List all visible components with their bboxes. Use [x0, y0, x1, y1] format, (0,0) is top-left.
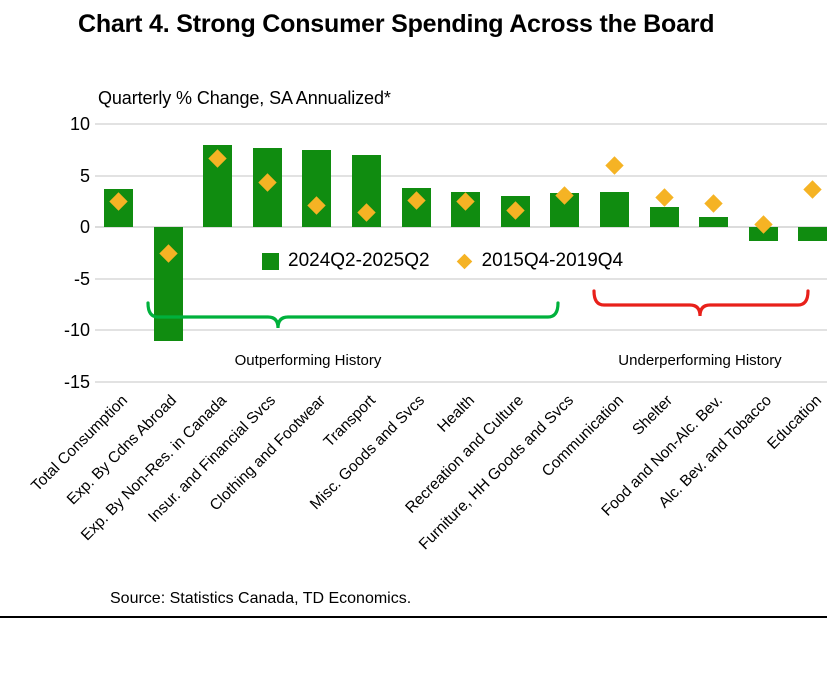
y-tick-label: -10	[44, 321, 90, 339]
bar	[798, 227, 827, 240]
legend-diamond-icon	[456, 253, 472, 269]
bar	[600, 192, 629, 227]
marker-diamond	[804, 180, 822, 198]
bar	[699, 217, 728, 227]
chart-legend: 2024Q2-2025Q2 2015Q4-2019Q4	[262, 250, 623, 272]
bar	[650, 207, 679, 228]
y-tick-label: 0	[44, 218, 90, 236]
y-axis-labels: 1050-5-10-15	[38, 124, 90, 386]
marker-diamond	[704, 194, 722, 212]
underperforming-history-label: Underperforming History	[570, 352, 827, 369]
chart-container: Chart 4. Strong Consumer Spending Across…	[0, 0, 827, 618]
marker-diamond	[605, 156, 623, 174]
y-tick-label: 10	[44, 115, 90, 133]
legend-label-markers: 2015Q4-2019Q4	[482, 250, 624, 272]
gridline	[95, 123, 827, 125]
outperforming-history-label: Outperforming History	[178, 352, 438, 369]
bar	[302, 150, 331, 227]
chart-title: Chart 4. Strong Consumer Spending Across…	[78, 8, 758, 41]
x-axis-labels: Total ConsumptionExp. By Cdns AbroadExp.…	[0, 388, 827, 588]
chart-subtitle: Quarterly % Change, SA Annualized*	[98, 88, 391, 109]
y-tick-label: -5	[44, 270, 90, 288]
marker-diamond	[655, 188, 673, 206]
source-note: Source: Statistics Canada, TD Economics.	[110, 590, 411, 608]
legend-label-bars: 2024Q2-2025Q2	[288, 250, 430, 272]
gridline	[95, 381, 827, 383]
legend-item-bars[interactable]: 2024Q2-2025Q2	[262, 250, 430, 272]
legend-square-icon	[262, 253, 279, 270]
legend-item-markers[interactable]: 2015Q4-2019Q4	[456, 250, 624, 272]
y-tick-label: 5	[44, 167, 90, 185]
gridline	[95, 329, 827, 331]
gridline	[95, 278, 827, 280]
